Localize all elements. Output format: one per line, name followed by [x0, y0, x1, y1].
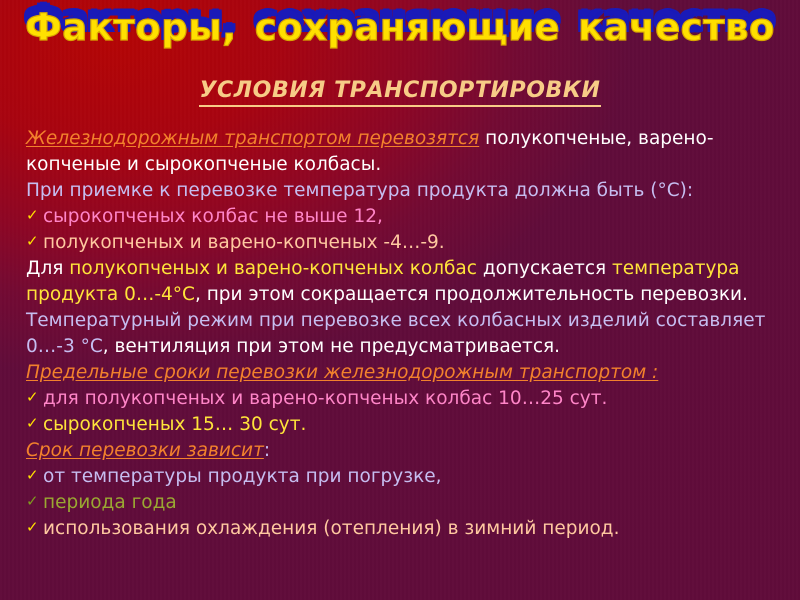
- body-bullet-item: ✓использования охлаждения (отепления) в …: [26, 516, 782, 542]
- slide-wordart-title: Факторы,сохраняющиекачество: [0, 6, 800, 49]
- text-run: При приемке к перевозке температура прод…: [26, 180, 693, 201]
- body-paragraph: Предельные сроки перевозки железнодорожн…: [26, 360, 782, 386]
- wordart-word: качество: [578, 6, 775, 49]
- body-bullet-item: ✓полукопченых и варено-копченых -4…-9.: [26, 230, 782, 256]
- text-run: допускается: [477, 258, 612, 279]
- presentation-slide: Факторы,сохраняющиекачество УСЛОВИЯ ТРАН…: [0, 0, 800, 600]
- section-heading-text: УСЛОВИЯ ТРАНСПОРТИРОВКИ: [199, 78, 600, 107]
- check-mark-icon: ✓: [26, 410, 39, 436]
- text-run: для полукопченых и варено-копченых колба…: [43, 388, 607, 409]
- text-run: Предельные сроки перевозки железнодорожн…: [26, 362, 658, 383]
- wordart-word: Факторы,: [25, 6, 237, 49]
- wordart-word: сохраняющие: [255, 6, 560, 49]
- text-run: полукопченых и варено-копченых колбас: [69, 258, 477, 279]
- text-run: периода года: [43, 492, 177, 513]
- body-paragraph: Для полукопченых и варено-копченых колба…: [26, 256, 782, 308]
- body-paragraph: При приемке к перевозке температура прод…: [26, 178, 782, 204]
- body-paragraph: Температурный режим при перевозке всех к…: [26, 308, 782, 334]
- check-mark-icon: ✓: [26, 514, 39, 540]
- check-mark-icon: ✓: [26, 228, 39, 254]
- body-bullet-item: ✓для полукопченых и варено-копченых колб…: [26, 386, 782, 412]
- body-bullet-item: ✓сырокопченых 15… 30 сут.: [26, 412, 782, 438]
- text-run: сырокопченых 15… 30 сут.: [43, 414, 306, 435]
- text-run: использования охлаждения (отепления) в з…: [43, 518, 619, 539]
- check-mark-icon: ✓: [26, 384, 39, 410]
- body-bullet-item: ✓от температуры продукта при погрузке,: [26, 464, 782, 490]
- check-mark-icon: ✓: [26, 202, 39, 228]
- text-run: :: [264, 440, 270, 461]
- check-mark-icon: ✓: [26, 462, 39, 488]
- body-paragraph: 0…-3 °С, вентиляция при этом не предусма…: [26, 334, 782, 360]
- text-run: от температуры продукта при погрузке,: [43, 466, 442, 487]
- body-paragraph: Железнодорожным транспортом перевозятся …: [26, 126, 782, 178]
- text-run: полукопченых и варено-копченых -4…-9.: [43, 232, 445, 253]
- text-run: Для: [26, 258, 69, 279]
- text-run: , вентиляция при этом не предусматривает…: [103, 336, 560, 357]
- body-bullet-item: ✓сырокопченых колбас не выше 12,: [26, 204, 782, 230]
- slide-body: Железнодорожным транспортом перевозятся …: [26, 126, 782, 542]
- text-run: Температурный режим при перевозке всех к…: [26, 310, 765, 331]
- text-run: , при этом сокращается продолжительность…: [195, 284, 748, 305]
- text-run: Срок перевозки зависит: [26, 440, 264, 461]
- slide-section-heading: УСЛОВИЯ ТРАНСПОРТИРОВКИ: [0, 78, 800, 107]
- body-paragraph: Срок перевозки зависит:: [26, 438, 782, 464]
- check-mark-icon: ✓: [26, 488, 39, 514]
- text-run: Железнодорожным транспортом перевозятся: [26, 128, 479, 149]
- text-run: 0…-3 °С: [26, 336, 103, 357]
- text-run: сырокопченых колбас не выше 12,: [43, 206, 383, 227]
- body-bullet-item: ✓периода года: [26, 490, 782, 516]
